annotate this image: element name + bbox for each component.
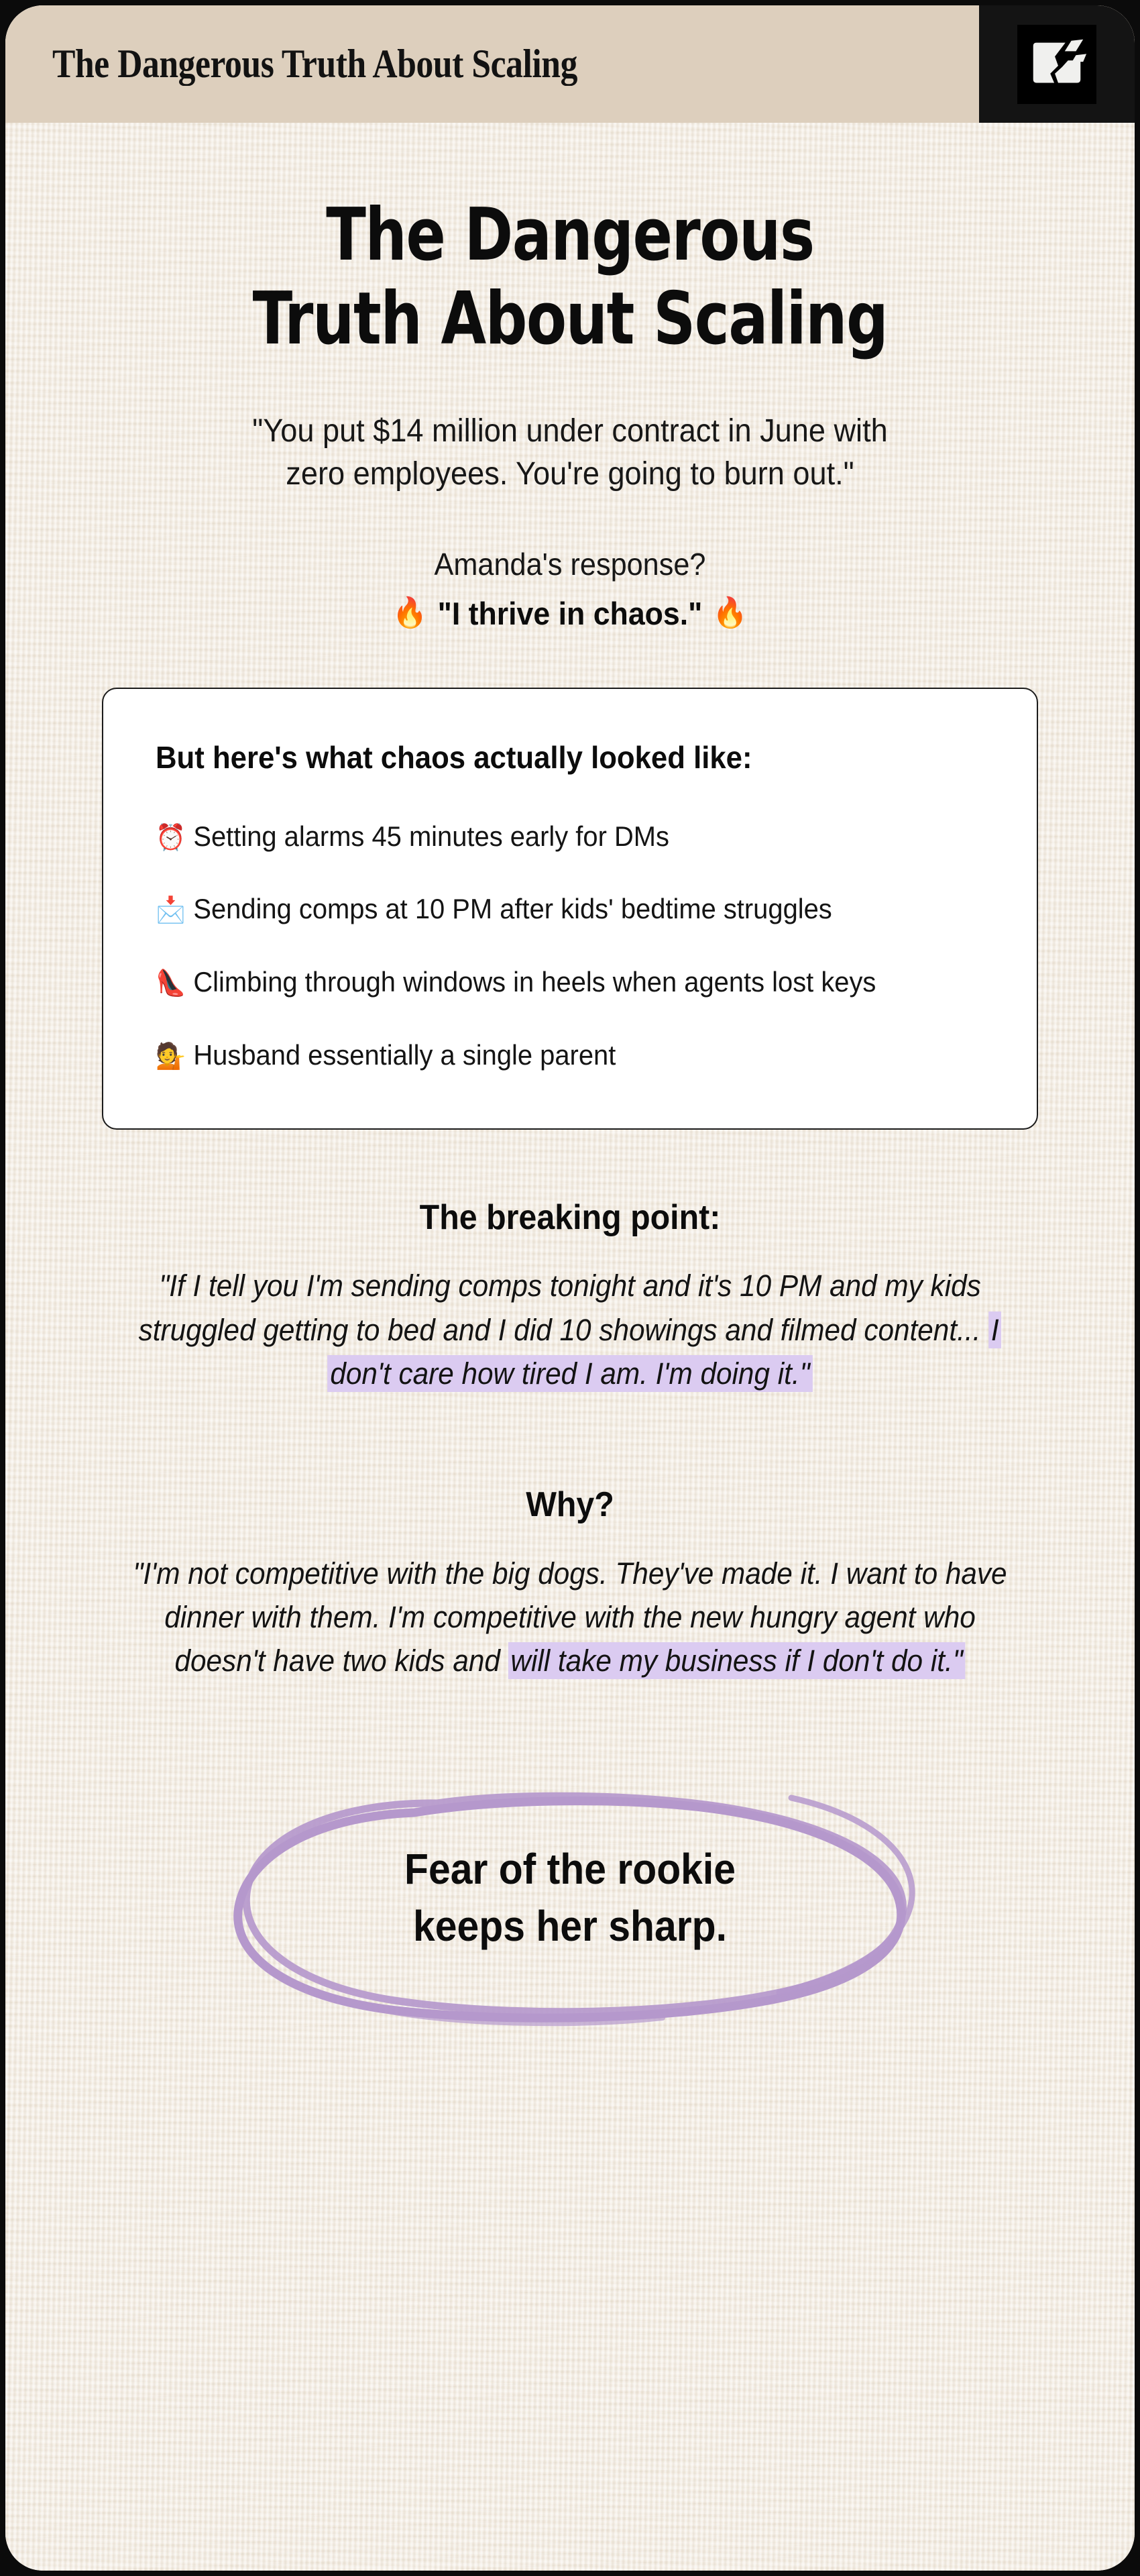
response-quote-text: "I thrive in chaos." (438, 593, 703, 634)
list-item: ⏰Setting alarms 45 minutes early for DMs (156, 816, 943, 857)
fire-icon-right: 🔥 (713, 598, 748, 628)
logo-tile (1017, 25, 1096, 104)
why-highlight: will take my business if I don't do it." (508, 1642, 966, 1679)
screenshot-root: The Dangerous Truth About Scaling The Da… (0, 0, 1140, 2576)
page-title-line-2: Truth About Scaling (134, 277, 1006, 361)
list-item: 📩Sending comps at 10 PM after kids' bedt… (156, 889, 943, 930)
finale-line-1: Fear of the rookie (50, 1841, 1089, 1897)
page-sheet: The Dangerous Truth About Scaling The Da… (5, 5, 1135, 2571)
list-item-text: Setting alarms 45 minutes early for DMs (193, 820, 669, 852)
why-heading: Why? (126, 1484, 1014, 1525)
list-item-text: Climbing through windows in heels when a… (193, 966, 876, 998)
why-body: "I'm not competitive with the big dogs. … (121, 1552, 1019, 1683)
list-item-text: Husband essentially a single parent (193, 1039, 616, 1071)
list-item-text: Sending comps at 10 PM after kids' bedti… (193, 893, 832, 924)
logo-button[interactable] (979, 5, 1135, 123)
breaking-point-body: "If I tell you I'm sending comps tonight… (121, 1264, 1019, 1395)
response-quote-line: 🔥 "I thrive in chaos." 🔥 (129, 593, 1011, 634)
page-title-line-1: The Dangerous (134, 193, 1006, 277)
content-area: The Dangerous Truth About Scaling "You p… (5, 123, 1135, 2031)
response-label: Amanda's response? (134, 545, 1007, 585)
finale-text: Fear of the rookie keeps her sharp. (50, 1841, 1089, 1954)
breaking-point-body-plain: "If I tell you I'm sending comps tonight… (139, 1269, 989, 1346)
shattered-square-icon (1024, 32, 1090, 97)
list-item: 💁Husband essentially a single parent (156, 1035, 943, 1076)
alarm-clock-icon: ⏰ (156, 822, 186, 852)
list-item: 👠Climbing through windows in heels when … (156, 962, 943, 1003)
finale-line-2: keeps her sharp. (50, 1898, 1089, 1954)
response-block: Amanda's response? 🔥 "I thrive in chaos.… (5, 496, 1135, 634)
intro-quote-line-1: "You put $14 million under contract in J… (134, 410, 1007, 453)
breaking-point-section: The breaking point: "If I tell you I'm s… (5, 1197, 1135, 1395)
intro-quote: "You put $14 million under contract in J… (40, 362, 1101, 497)
chaos-list: ⏰Setting alarms 45 minutes early for DMs… (156, 816, 984, 1077)
header-title: The Dangerous Truth About Scaling (52, 5, 577, 123)
why-section: Why? "I'm not competitive with the big d… (5, 1484, 1135, 1682)
fire-icon-left: 🔥 (392, 598, 427, 628)
page-title: The Dangerous Truth About Scaling (62, 123, 1078, 362)
breaking-point-heading: The breaking point: (126, 1197, 1014, 1238)
chaos-card-heading: But here's what chaos actually looked li… (156, 739, 943, 777)
chaos-card: But here's what chaos actually looked li… (102, 688, 1038, 1130)
finale-section: Fear of the rookie keeps her sharp. (5, 1783, 1135, 2031)
person-tipping-hand-icon: 💁 (156, 1041, 186, 1071)
header-bar: The Dangerous Truth About Scaling (5, 5, 1135, 123)
incoming-envelope-icon: 📩 (156, 895, 186, 924)
intro-quote-line-2: zero employees. You're going to burn out… (134, 453, 1007, 496)
high-heel-icon: 👠 (156, 968, 186, 998)
